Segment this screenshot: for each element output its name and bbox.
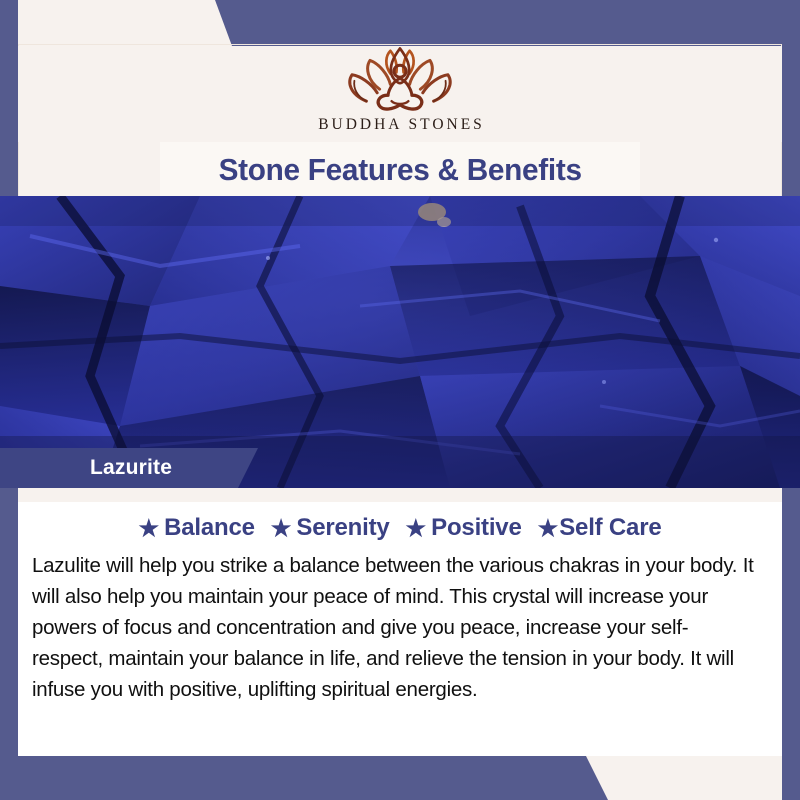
page-title: Stone Features & Benefits	[218, 152, 581, 188]
brand-header: BUDDHA STONES	[18, 46, 782, 142]
page-title-band: Stone Features & Benefits	[160, 142, 640, 198]
content-panel: ★ Balance ★ Serenity ★ Positive ★ Self C…	[18, 488, 782, 756]
star-icon: ★	[139, 517, 160, 540]
star-icon: ★	[538, 517, 559, 540]
lotus-meditation-icon	[340, 46, 460, 112]
keyword-positive: ★ Positive	[406, 514, 522, 542]
keyword-label: Self Care	[559, 514, 661, 542]
frame-top-bar	[0, 0, 800, 46]
star-icon: ★	[271, 517, 292, 540]
keyword-balance: ★ Balance	[139, 514, 255, 542]
stone-name: Lazurite	[90, 456, 172, 480]
content-top-strip	[18, 488, 782, 502]
poster-canvas: BUDDHA STONES Stone Features & Benefits	[0, 0, 800, 800]
star-icon: ★	[406, 517, 427, 540]
stone-photo	[0, 196, 800, 488]
keyword-serenity: ★ Serenity	[271, 514, 390, 542]
keyword-list: ★ Balance ★ Serenity ★ Positive ★ Self C…	[18, 514, 782, 542]
brand-logo: BUDDHA STONES	[315, 46, 485, 134]
stone-description: Lazulite will help you strike a balance …	[32, 550, 754, 705]
stone-name-tag: Lazurite	[0, 448, 258, 488]
brand-name: BUDDHA STONES	[315, 116, 485, 134]
keyword-label: Serenity	[296, 514, 389, 542]
keyword-self-care: ★ Self Care	[538, 514, 662, 542]
frame-bottom-bar	[0, 754, 800, 800]
keyword-label: Positive	[431, 514, 521, 542]
keyword-label: Balance	[164, 514, 255, 542]
